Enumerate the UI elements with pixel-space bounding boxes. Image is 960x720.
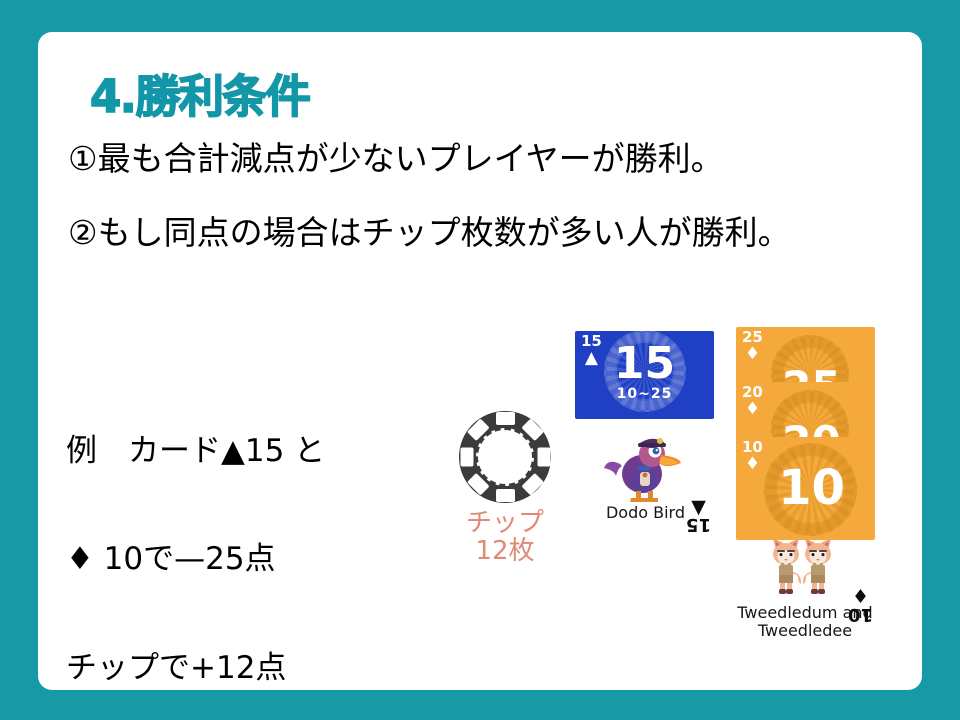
dodo-bird-icon	[598, 424, 694, 504]
card-center-orange-10: 10	[736, 437, 875, 540]
page-title: 4.勝利条件	[90, 60, 309, 125]
card-value-large: 15	[614, 344, 675, 384]
card-bottom-value: 15	[686, 516, 711, 533]
chip-group: チップ 12枚	[455, 411, 555, 565]
slide-white-panel: 4.勝利条件 ①最も合計減点が少ないプレイヤーが勝利。 ②もし同点の場合はチップ…	[38, 32, 922, 690]
card-value-large: 10	[778, 467, 845, 510]
example-line-2: ♦ 10で—25点	[66, 541, 426, 577]
game-card-orange-10: 10 ♦ 10	[736, 437, 875, 540]
example-line-3: チップで+12点	[66, 650, 426, 686]
chip-label: チップ 12枚	[455, 509, 555, 565]
example-line-1: 例 カード▲15 と	[66, 433, 426, 469]
tweedle-cats-icon	[750, 532, 860, 604]
game-card-orange-25: 25 ♦ 25	[736, 327, 875, 387]
card-bottom-mark-blue: ▼ 15	[686, 498, 711, 533]
poker-chip-icon	[459, 411, 551, 503]
example-block: 例 カード▲15 と ♦ 10で—25点 チップで+12点 合計 13点となりま…	[66, 360, 426, 720]
rule-line-1: ①最も合計減点が少ないプレイヤーが勝利。	[68, 140, 898, 178]
slide-root: 4.勝利条件 ①最も合計減点が少ないプレイヤーが勝利。 ②もし同点の場合はチップ…	[0, 0, 960, 720]
card-center-orange-25: 25	[736, 327, 875, 387]
rule-line-2: ②もし同点の場合はチップ枚数が多い人が勝利。	[68, 214, 888, 252]
game-card-blue-15: 15 ▲ 15 10~25	[575, 331, 714, 419]
card-range-label: 10~25	[617, 386, 673, 402]
card-center-blue: 15 10~25	[575, 331, 714, 419]
game-card-orange-20: 20 ♦ 20	[736, 382, 875, 442]
card-center-orange-20: 20	[736, 382, 875, 442]
card-bottom-value: 10	[848, 606, 873, 623]
chip-inner-ring	[476, 428, 534, 486]
card-bottom-mark-orange: ♦ 10	[848, 588, 873, 623]
